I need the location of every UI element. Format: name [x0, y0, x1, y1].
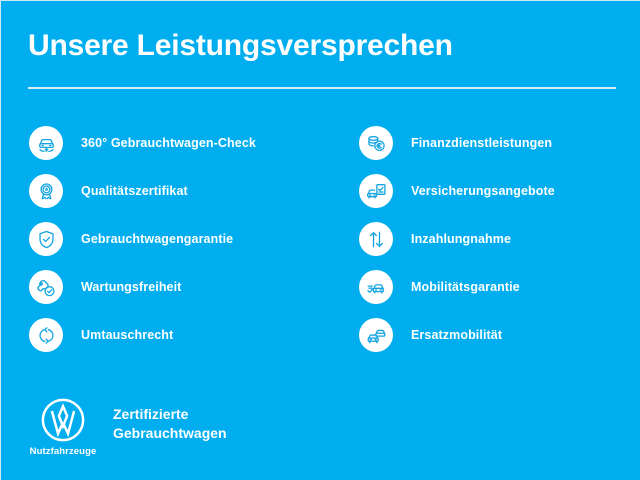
features-column-right: Finanzdienstleistungen — [359, 119, 629, 359]
award-rosette-icon — [29, 174, 63, 208]
car-inspection-icon — [29, 126, 63, 160]
feature-label: Wartungsfreiheit — [81, 280, 181, 294]
feature-label: 360° Gebrauchtwagen-Check — [81, 136, 256, 150]
feature-item[interactable]: Ersatzmobilität — [359, 311, 629, 359]
feature-item[interactable]: Versicherungsangebote — [359, 167, 629, 215]
feature-item[interactable]: Inzahlungnahme — [359, 215, 629, 263]
feature-item[interactable]: Umtauschrecht — [29, 311, 329, 359]
title-divider — [28, 87, 616, 89]
car-motion-check-icon — [359, 270, 393, 304]
exchange-arrows-icon — [29, 318, 63, 352]
feature-item[interactable]: Qualitätszertifikat — [29, 167, 329, 215]
footer-headline-line1: Zertifizierte — [113, 405, 227, 424]
footer: Nutzfahrzeuge Zertifizierte Gebrauchtwag… — [29, 397, 227, 457]
feature-item[interactable]: Mobilitätsgarantie — [359, 263, 629, 311]
vw-logo — [40, 397, 86, 443]
page-title: Unsere Leistungsversprechen — [28, 29, 453, 63]
car-document-check-icon — [359, 174, 393, 208]
promise-slide: Unsere Leistungsversprechen — [0, 0, 640, 480]
feature-label: Gebrauchtwagengarantie — [81, 232, 233, 246]
feature-item[interactable]: Gebrauchtwagengarantie — [29, 215, 329, 263]
brand-lockup: Nutzfahrzeuge — [29, 397, 97, 457]
feature-label: Mobilitätsgarantie — [411, 280, 520, 294]
brand-subtitle: Nutzfahrzeuge — [29, 446, 97, 457]
feature-label: Versicherungsangebote — [411, 184, 555, 198]
feature-item[interactable]: Wartungsfreiheit — [29, 263, 329, 311]
shield-check-icon — [29, 222, 63, 256]
wrench-check-icon — [29, 270, 63, 304]
footer-headline: Zertifizierte Gebrauchtwagen — [113, 405, 227, 443]
two-cars-icon — [359, 318, 393, 352]
up-down-arrows-icon — [359, 222, 393, 256]
footer-headline-line2: Gebrauchtwagen — [113, 424, 227, 443]
feature-label: Ersatzmobilität — [411, 328, 502, 342]
features-column-left: 360° Gebrauchtwagen-Check Qualitätszerti… — [29, 119, 329, 359]
feature-label: Umtauschrecht — [81, 328, 173, 342]
feature-label: Qualitätszertifikat — [81, 184, 188, 198]
feature-label: Inzahlungnahme — [411, 232, 511, 246]
feature-label: Finanzdienstleistungen — [411, 136, 552, 150]
feature-item[interactable]: Finanzdienstleistungen — [359, 119, 629, 167]
feature-item[interactable]: 360° Gebrauchtwagen-Check — [29, 119, 329, 167]
coins-euro-icon — [359, 126, 393, 160]
